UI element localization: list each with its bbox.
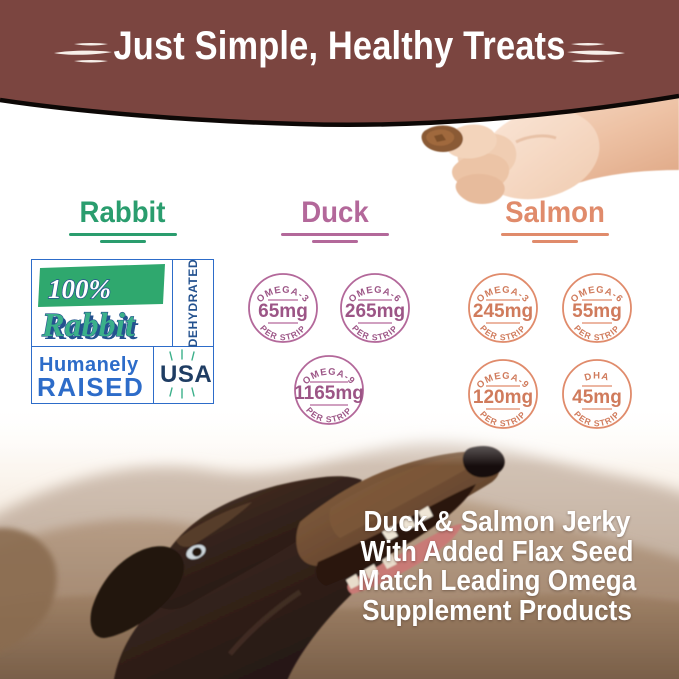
svg-text:245mg: 245mg <box>473 301 533 322</box>
svg-text:PER STRIP: PER STRIP <box>478 323 528 342</box>
heading-rule-duck <box>240 233 430 245</box>
badge-dehydrated-label: DEHYDRATED <box>186 259 200 347</box>
svg-text:120mg: 120mg <box>473 387 533 408</box>
badge-100-percent-rabbit: 100% Rabbit Rabbit 100% Rabbit <box>31 259 173 347</box>
svg-text:65mg: 65mg <box>258 301 308 322</box>
nutrient-circle-duck-omega6: OMEGA-6 265mg PER STRIP OMEGA-6 265mg PE… <box>332 265 418 356</box>
column-heading-duck: Duck <box>248 196 423 230</box>
tagline-line-3: Match Leading Omega <box>353 567 641 597</box>
svg-text:1165mg: 1165mg <box>294 383 364 404</box>
column-duck: Duck OMEGA-3 65mg <box>240 196 430 427</box>
salmon-nutrient-circles: OMEGA-3 245mg PER STRIP OMEGA-3 245mg PE… <box>450 257 660 437</box>
svg-text:Rabbit: Rabbit <box>41 307 136 344</box>
badge-dehydrated: DEHYDRATED <box>173 259 214 347</box>
page-title: Just Simple, Healthy Treats <box>48 24 632 69</box>
svg-text:265mg: 265mg <box>345 301 405 322</box>
svg-text:PER STRIP: PER STRIP <box>478 409 528 428</box>
product-infographic: Duck & Salmon Jerky With Added Flax Seed… <box>0 0 679 679</box>
column-heading-rabbit: Rabbit <box>28 196 217 230</box>
rabbit-badge-group: 100% Rabbit Rabbit 100% Rabbit DEHYDRATE… <box>31 259 214 404</box>
nutrient-circle-duck-omega9: OMEGA-9 1165mg PER STRIP OMEGA-9 1165mg … <box>286 347 372 438</box>
svg-text:45mg: 45mg <box>572 387 622 408</box>
heading-rule-salmon <box>450 233 660 245</box>
tagline-line-1: Duck & Salmon Jerky <box>353 508 641 538</box>
tagline-line-4: Supplement Products <box>353 597 641 627</box>
tagline-line-2: With Added Flax Seed <box>353 538 641 568</box>
column-salmon: Salmon OMEGA-3 245mg <box>450 196 660 437</box>
svg-text:100%: 100% <box>48 274 111 304</box>
badge-usa: USA USA <box>154 347 214 404</box>
flourish-right-icon <box>565 40 627 71</box>
column-heading-salmon: Salmon <box>458 196 651 230</box>
badge-humanely-raised: Humanely RAISED Humanely RAISED <box>31 347 154 404</box>
column-rabbit: Rabbit 100% Rabbit Rabbit <box>20 196 225 404</box>
nutrient-circle-salmon-dha: DHA 45mg PER STRIP DHA 45mg PER STRIP <box>554 351 640 442</box>
nutrient-circle-salmon-omega9: OMEGA-9 120mg PER STRIP OMEGA-9 120mg PE… <box>460 351 546 442</box>
svg-text:PER STRIP: PER STRIP <box>572 323 622 342</box>
svg-text:RAISED: RAISED <box>37 372 144 401</box>
svg-text:USA: USA <box>160 361 211 388</box>
svg-text:PER STRIP: PER STRIP <box>350 323 400 342</box>
nutrient-circle-salmon-omega6: OMEGA-6 55mg PER STRIP OMEGA-6 55mg PER … <box>554 265 640 356</box>
svg-text:PER STRIP: PER STRIP <box>258 323 308 342</box>
nutrient-circle-duck-omega3: OMEGA-3 65mg PER STRIP OMEGA-3 65mg PER … <box>240 265 326 356</box>
tagline: Duck & Salmon Jerky With Added Flax Seed… <box>353 508 641 626</box>
duck-nutrient-circles: OMEGA-3 65mg PER STRIP OMEGA-3 65mg PER … <box>240 257 430 427</box>
nutrition-columns: Rabbit 100% Rabbit Rabbit <box>0 196 679 436</box>
svg-text:55mg: 55mg <box>572 301 622 322</box>
svg-text:PER STRIP: PER STRIP <box>572 409 622 428</box>
svg-text:DHA: DHA <box>583 371 610 384</box>
svg-text:PER STRIP: PER STRIP <box>304 405 354 424</box>
heading-rule-rabbit <box>20 233 225 245</box>
flourish-left-icon <box>52 40 114 71</box>
nutrient-circle-salmon-omega3: OMEGA-3 245mg PER STRIP OMEGA-3 245mg PE… <box>460 265 546 356</box>
